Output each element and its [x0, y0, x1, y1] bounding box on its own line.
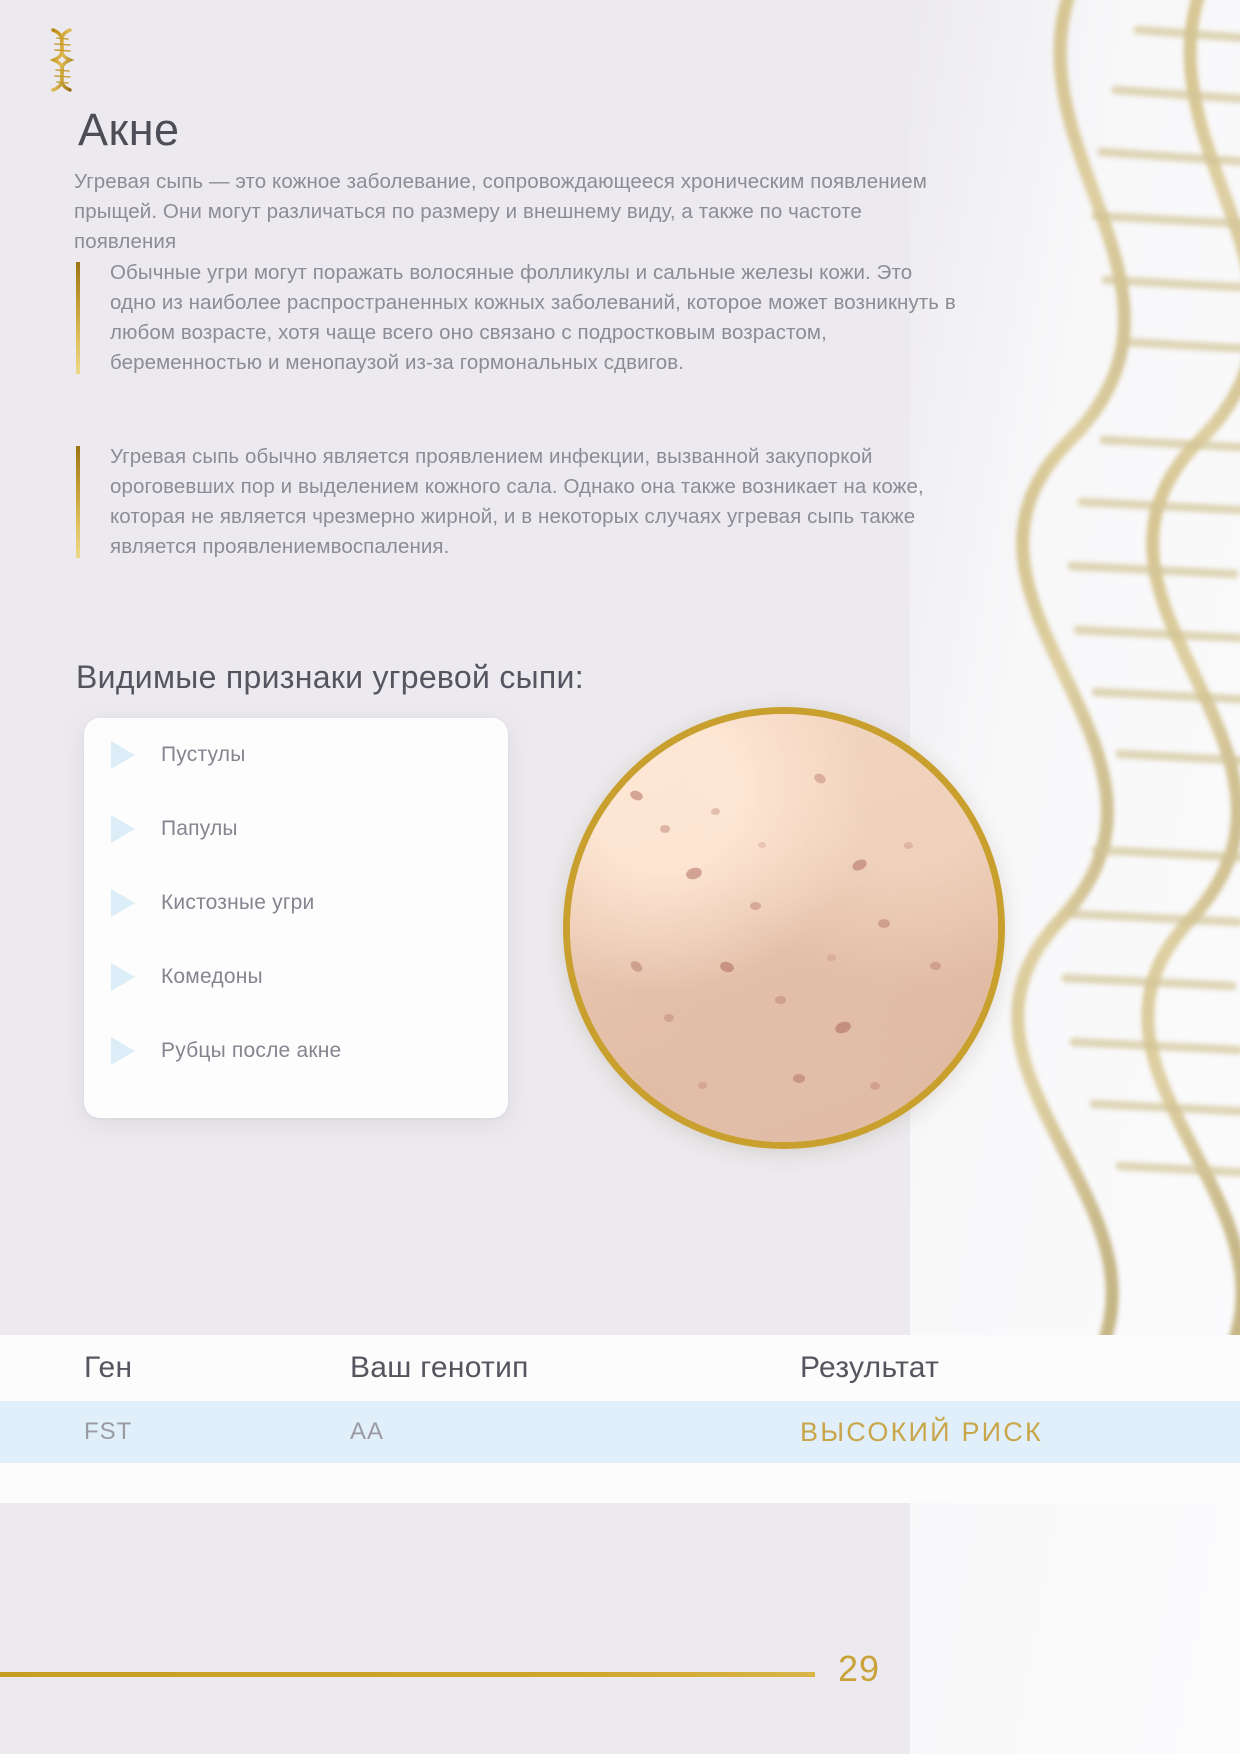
results-table: Ген Ваш генотип Результат FST AA ВЫСОКИЙ… — [0, 1335, 1240, 1503]
info-block-2: Угревая сыпь обычно является проявлением… — [76, 442, 956, 562]
acne-skin-photo — [563, 707, 1005, 1149]
gold-accent-bar — [76, 446, 80, 558]
triangle-right-icon — [111, 889, 135, 917]
cell-genotype: AA — [350, 1418, 800, 1446]
table-header-result: Результат — [800, 1351, 1240, 1385]
triangle-right-icon — [111, 741, 135, 769]
status-badge: ВЫСОКИЙ РИСК — [800, 1417, 1240, 1448]
list-item: Пустулы — [84, 718, 508, 792]
list-item: Папулы — [84, 792, 508, 866]
table-row: FST AA ВЫСОКИЙ РИСК — [0, 1401, 1240, 1463]
info-block-2-text: Угревая сыпь обычно является проявлением… — [110, 442, 956, 562]
gold-accent-bar — [76, 262, 80, 374]
sign-label: Рубцы после акне — [161, 1039, 341, 1063]
footer-divider — [0, 1672, 815, 1677]
list-item: Рубцы после акне — [84, 1014, 508, 1088]
sign-label: Кистозные угри — [161, 891, 315, 915]
table-bottom-spacer — [0, 1463, 1240, 1503]
skin-texture — [570, 714, 998, 1142]
table-header-row: Ген Ваш генотип Результат — [0, 1335, 1240, 1401]
list-item: Кистозные угри — [84, 866, 508, 940]
triangle-right-icon — [111, 1037, 135, 1065]
sign-label: Комедоны — [161, 965, 263, 989]
sign-label: Папулы — [161, 817, 238, 841]
intro-paragraph: Угревая сыпь — это кожное заболевание, с… — [74, 167, 964, 257]
info-block-1-text: Обычные угри могут поражать волосяные фо… — [110, 258, 956, 378]
info-block-1: Обычные угри могут поражать волосяные фо… — [76, 258, 956, 378]
triangle-right-icon — [111, 815, 135, 843]
sign-label: Пустулы — [161, 743, 246, 767]
page-title: Акне — [78, 104, 180, 156]
signs-section-heading: Видимые признаки угревой сыпи: — [76, 659, 584, 696]
table-header-gene: Ген — [0, 1351, 350, 1385]
triangle-right-icon — [111, 963, 135, 991]
cell-gene: FST — [0, 1418, 350, 1446]
list-item: Комедоны — [84, 940, 508, 1014]
visible-signs-card: Пустулы Папулы Кистозные угри Комедоны Р… — [84, 718, 508, 1118]
dna-helix-icon — [40, 24, 84, 96]
page-number: 29 — [838, 1648, 880, 1690]
table-header-genotype: Ваш генотип — [350, 1351, 800, 1385]
